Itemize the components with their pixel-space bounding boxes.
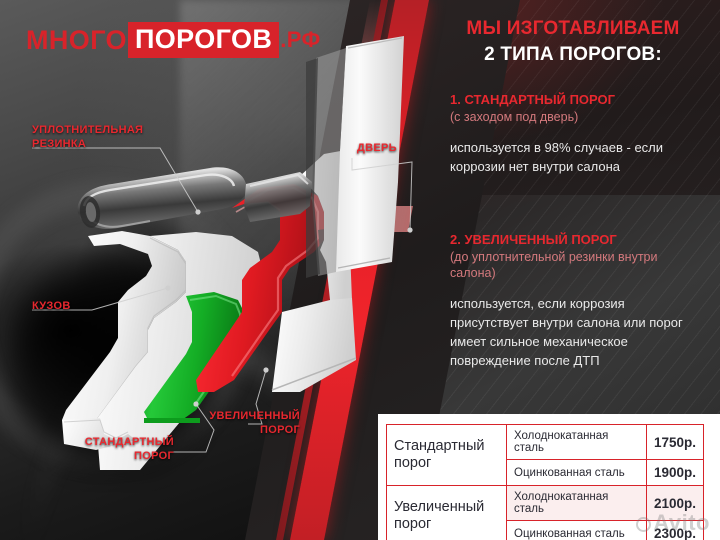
row-name-line-2: порог	[394, 455, 431, 471]
material-cell: Холоднокатанная сталь	[507, 486, 647, 521]
floor-panel	[272, 298, 356, 392]
section-1-title: 1. СТАНДАРТНЫЙ ПОРОГ	[450, 92, 706, 109]
section-1-body: используется в 98% случаев - если корроз…	[450, 139, 706, 177]
material-cell: Холоднокатанная сталь	[507, 425, 647, 460]
section-2-body: используется, если коррозия присутствует…	[450, 295, 706, 370]
header-line-2: 2 ТИПА ПОРОГОВ:	[442, 44, 704, 66]
table-row: Увеличенный порог Холоднокатанная сталь …	[387, 486, 704, 521]
price-cell: 1750р.	[646, 425, 703, 460]
header-line-1: МЫ ИЗГОТАВЛИВАЕМ	[442, 18, 704, 40]
label-standard-sill: СТАНДАРТНЫЙ ПОРОГ	[52, 436, 174, 464]
section-1-subtitle: (с заходом под дверь)	[450, 109, 706, 125]
row-name-line-1: Стандартный	[394, 438, 484, 454]
site-logo[interactable]: МНОГОПОРОГОВ.РФ	[26, 22, 321, 58]
label-door: ДВЕРЬ	[357, 142, 397, 156]
row-name-standard: Стандартный порог	[387, 425, 507, 486]
material-cell: Оцинкованная сталь	[507, 460, 647, 486]
material-cell: Оцинкованная сталь	[507, 521, 647, 540]
logo-part-porogov: ПОРОГОВ	[128, 22, 279, 58]
logo-part-mnogo: МНОГО	[26, 25, 127, 56]
table-row: Стандартный порог Холоднокатанная сталь …	[387, 425, 704, 460]
section-standard: 1. СТАНДАРТНЫЙ ПОРОГ (с заходом под двер…	[450, 92, 706, 177]
label-car-body: КУЗОВ	[32, 300, 71, 314]
row-name-line-1: Увеличенный	[394, 499, 484, 515]
row-name-line-2: порог	[394, 516, 431, 532]
label-rubber-seal: УПЛОТНИТЕЛЬНАЯ РЕЗИНКА	[32, 124, 143, 152]
price-table: Стандартный порог Холоднокатанная сталь …	[386, 424, 704, 540]
price-cell: 1900р.	[646, 460, 703, 486]
logo-part-domain: .РФ	[280, 27, 320, 53]
section-extended: 2. УВЕЛИЧЕННЫЙ ПОРОГ (до уплотнительной …	[450, 232, 706, 371]
label-extended-sill: УВЕЛИЧЕННЫЙ ПОРОГ	[178, 410, 300, 438]
section-2-subtitle: (до уплотнительной резинки внутри салона…	[450, 249, 706, 282]
row-name-extended: Увеличенный порог	[387, 486, 507, 540]
price-cell: 2100р.	[646, 486, 703, 521]
price-table-wrapper: Стандартный порог Холоднокатанная сталь …	[386, 424, 704, 540]
section-2-title: 2. УВЕЛИЧЕННЫЙ ПОРОГ	[450, 232, 706, 249]
infographic-canvas: УПЛОТНИТЕЛЬНАЯ РЕЗИНКА КУЗОВ ДВЕРЬ СТАНД…	[0, 0, 720, 540]
price-cell: 2300р.	[646, 521, 703, 540]
header-block: МЫ ИЗГОТАВЛИВАЕМ 2 ТИПА ПОРОГОВ:	[442, 18, 704, 66]
